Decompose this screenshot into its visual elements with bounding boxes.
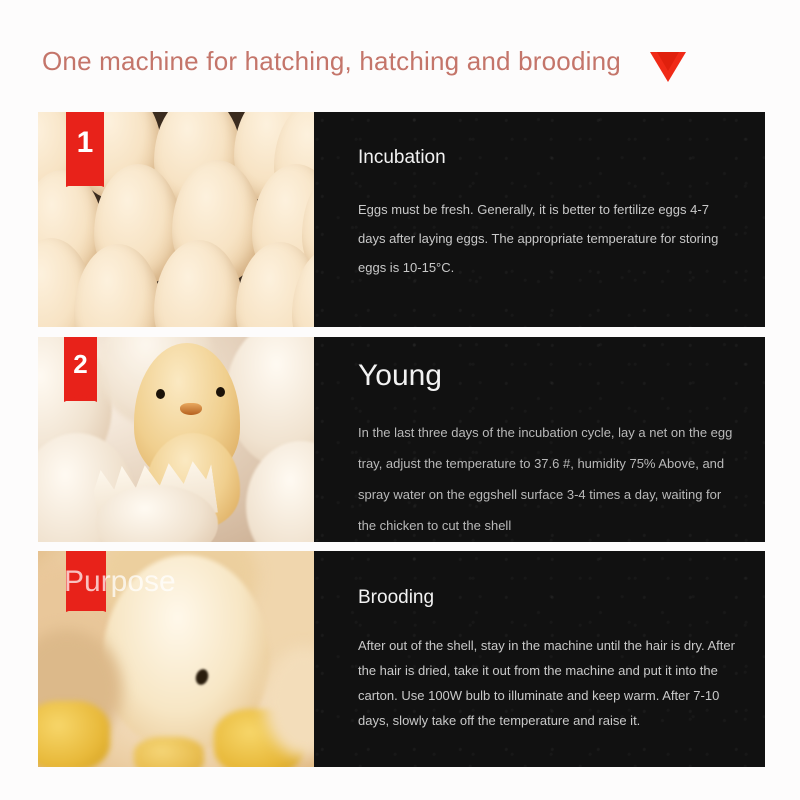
step-description: Eggs must be fresh. Generally, it is bet…: [314, 169, 765, 282]
step-heading: Brooding: [314, 551, 765, 609]
step-image-hatching: 2: [38, 337, 314, 542]
step-description: In the last three days of the incubation…: [314, 393, 765, 541]
step-badge-2: 2: [64, 337, 97, 401]
step-panel-incubation: 1 Incubation Eggs must be fresh. General…: [38, 112, 765, 327]
page-header: One machine for hatching, hatching and b…: [0, 40, 800, 90]
step-description: After out of the shell, stay in the mach…: [314, 609, 765, 733]
triangle-down-icon: [650, 52, 686, 82]
step-image-eggs: 1: [38, 112, 314, 327]
step-panel-brooding: Purpose Brooding After out of the shell,…: [38, 551, 765, 767]
step-badge-1: 1: [66, 112, 104, 186]
step-image-brooding: Purpose: [38, 551, 314, 767]
step-heading: Young: [314, 337, 765, 393]
page-title: One machine for hatching, hatching and b…: [42, 40, 621, 82]
step-heading: Incubation: [314, 112, 765, 169]
step-panel-young: 2 Young In the last three days of the in…: [38, 337, 765, 542]
step-text-incubation: Incubation Eggs must be fresh. Generally…: [314, 112, 765, 327]
step-badge-3: [66, 551, 106, 611]
step-text-brooding: Brooding After out of the shell, stay in…: [314, 551, 765, 767]
step-text-young: Young In the last three days of the incu…: [314, 337, 765, 542]
